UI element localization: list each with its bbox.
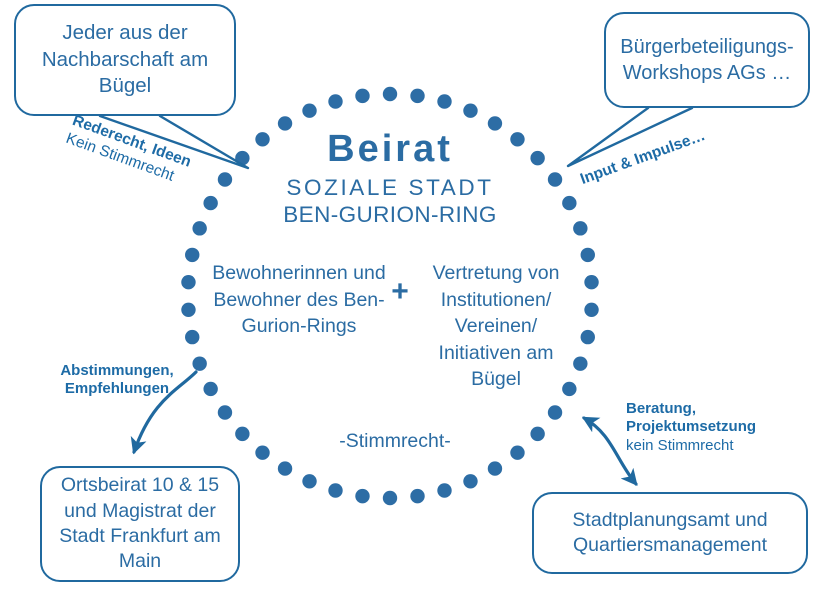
ring-dot	[218, 405, 232, 419]
ring-dot	[181, 303, 195, 317]
center-title-sub-2: BEN-GURION-RING	[240, 202, 540, 228]
ring-dot	[410, 489, 424, 503]
ring-dot	[185, 248, 199, 262]
ring-dot	[530, 427, 544, 441]
ring-dot	[255, 445, 269, 459]
ring-dot	[302, 104, 316, 118]
ring-dot	[488, 461, 502, 475]
ring-dot	[203, 382, 217, 396]
ring-dot	[328, 483, 342, 497]
ring-dot	[355, 489, 369, 503]
ring-dot	[355, 89, 369, 103]
ring-dot	[410, 89, 424, 103]
center-column-institutions: Vertretung von Institutionen/ Vereinen/ …	[412, 260, 580, 393]
ring-dot	[181, 275, 195, 289]
center-title-main: Beirat	[240, 128, 540, 171]
bubble-ortsbeirat-label: Ortsbeirat 10 & 15 und Magistrat der Sta…	[42, 473, 238, 574]
ring-dot	[562, 196, 576, 210]
ring-dot	[463, 104, 477, 118]
ring-dot	[581, 330, 595, 344]
annotation-abstimmungen-bold: Abstimmungen, Empfehlungen	[42, 362, 192, 399]
ring-dot	[584, 303, 598, 317]
ring-dot	[581, 248, 595, 262]
annotation-abstimmungen: Abstimmungen, Empfehlungen	[42, 362, 192, 399]
ring-dot	[573, 221, 587, 235]
center-column-residents: Bewohnerinnen und Bewohner des Ben-Gurio…	[206, 260, 392, 340]
ring-dot	[548, 172, 562, 186]
ring-dot	[463, 474, 477, 488]
ring-dot	[192, 356, 206, 370]
annotation-beratung-plain: kein Stimmrecht	[626, 437, 796, 455]
ring-dot	[185, 330, 199, 344]
ring-dot	[437, 94, 451, 108]
ring-dot	[235, 427, 249, 441]
ring-dot	[328, 94, 342, 108]
ring-dot	[548, 405, 562, 419]
bubble-neighbourhood-label: Jeder aus der Nachbarschaft am Bügel	[16, 20, 234, 100]
bubble-workshops-label: Bürgerbeteiligungs- Workshops AGs …	[606, 34, 808, 86]
ring-dot	[192, 221, 206, 235]
ring-dot	[278, 461, 292, 475]
annotation-beratung-bold: Beratung, Projektumsetzung	[626, 400, 796, 437]
ring-dot	[584, 275, 598, 289]
bubble-workshops[interactable]: Bürgerbeteiligungs- Workshops AGs …	[604, 12, 810, 108]
annotation-beratung: Beratung, Projektumsetzung kein Stimmrec…	[626, 400, 796, 455]
bubble-ortsbeirat[interactable]: Ortsbeirat 10 & 15 und Magistrat der Sta…	[40, 466, 240, 582]
bubble-stadtplanung[interactable]: Stadtplanungsamt und Quartiersmanagement	[532, 492, 808, 574]
bubble-stadtplanung-label: Stadtplanungsamt und Quartiersmanagement	[534, 508, 806, 559]
ring-dot	[383, 491, 397, 505]
ring-dot	[302, 474, 316, 488]
ring-dot	[383, 87, 397, 101]
center-title-sub-1: SOZIALE STADT	[240, 175, 540, 201]
ring-dot	[510, 445, 524, 459]
bubble-neighbourhood[interactable]: Jeder aus der Nachbarschaft am Bügel	[14, 4, 236, 116]
diagram-canvas: Jeder aus der Nachbarschaft am Bügel Bür…	[0, 0, 820, 600]
plus-icon: +	[386, 277, 414, 307]
center-voting-note: -Stimmrecht-	[300, 430, 490, 453]
ring-dot	[437, 483, 451, 497]
